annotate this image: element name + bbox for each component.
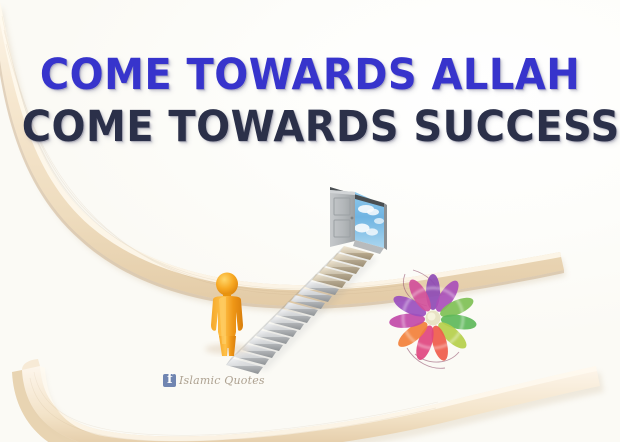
door-group	[330, 187, 387, 254]
watermark: Islamic Quotes	[163, 374, 265, 387]
flower-center-highlight	[428, 313, 436, 321]
watermark-brand-label: Islamic Quotes	[179, 374, 265, 387]
staircase-shadow	[236, 250, 378, 371]
ribbon-group	[0, 2, 604, 442]
ribbon-upper-underedge	[0, 10, 564, 309]
door-handle-icon	[351, 217, 354, 220]
facebook-f-icon	[163, 374, 176, 387]
poster-canvas: COME TOWARDS ALLAH COME TOWARDS SUCCESS …	[0, 0, 620, 442]
ribbon-upper	[0, 2, 564, 306]
scene-illustration	[0, 0, 620, 442]
figure-head	[216, 273, 238, 296]
ribbon-upper-highlight	[0, 2, 561, 290]
staircase-group	[226, 246, 378, 374]
door-jamb	[384, 203, 387, 250]
